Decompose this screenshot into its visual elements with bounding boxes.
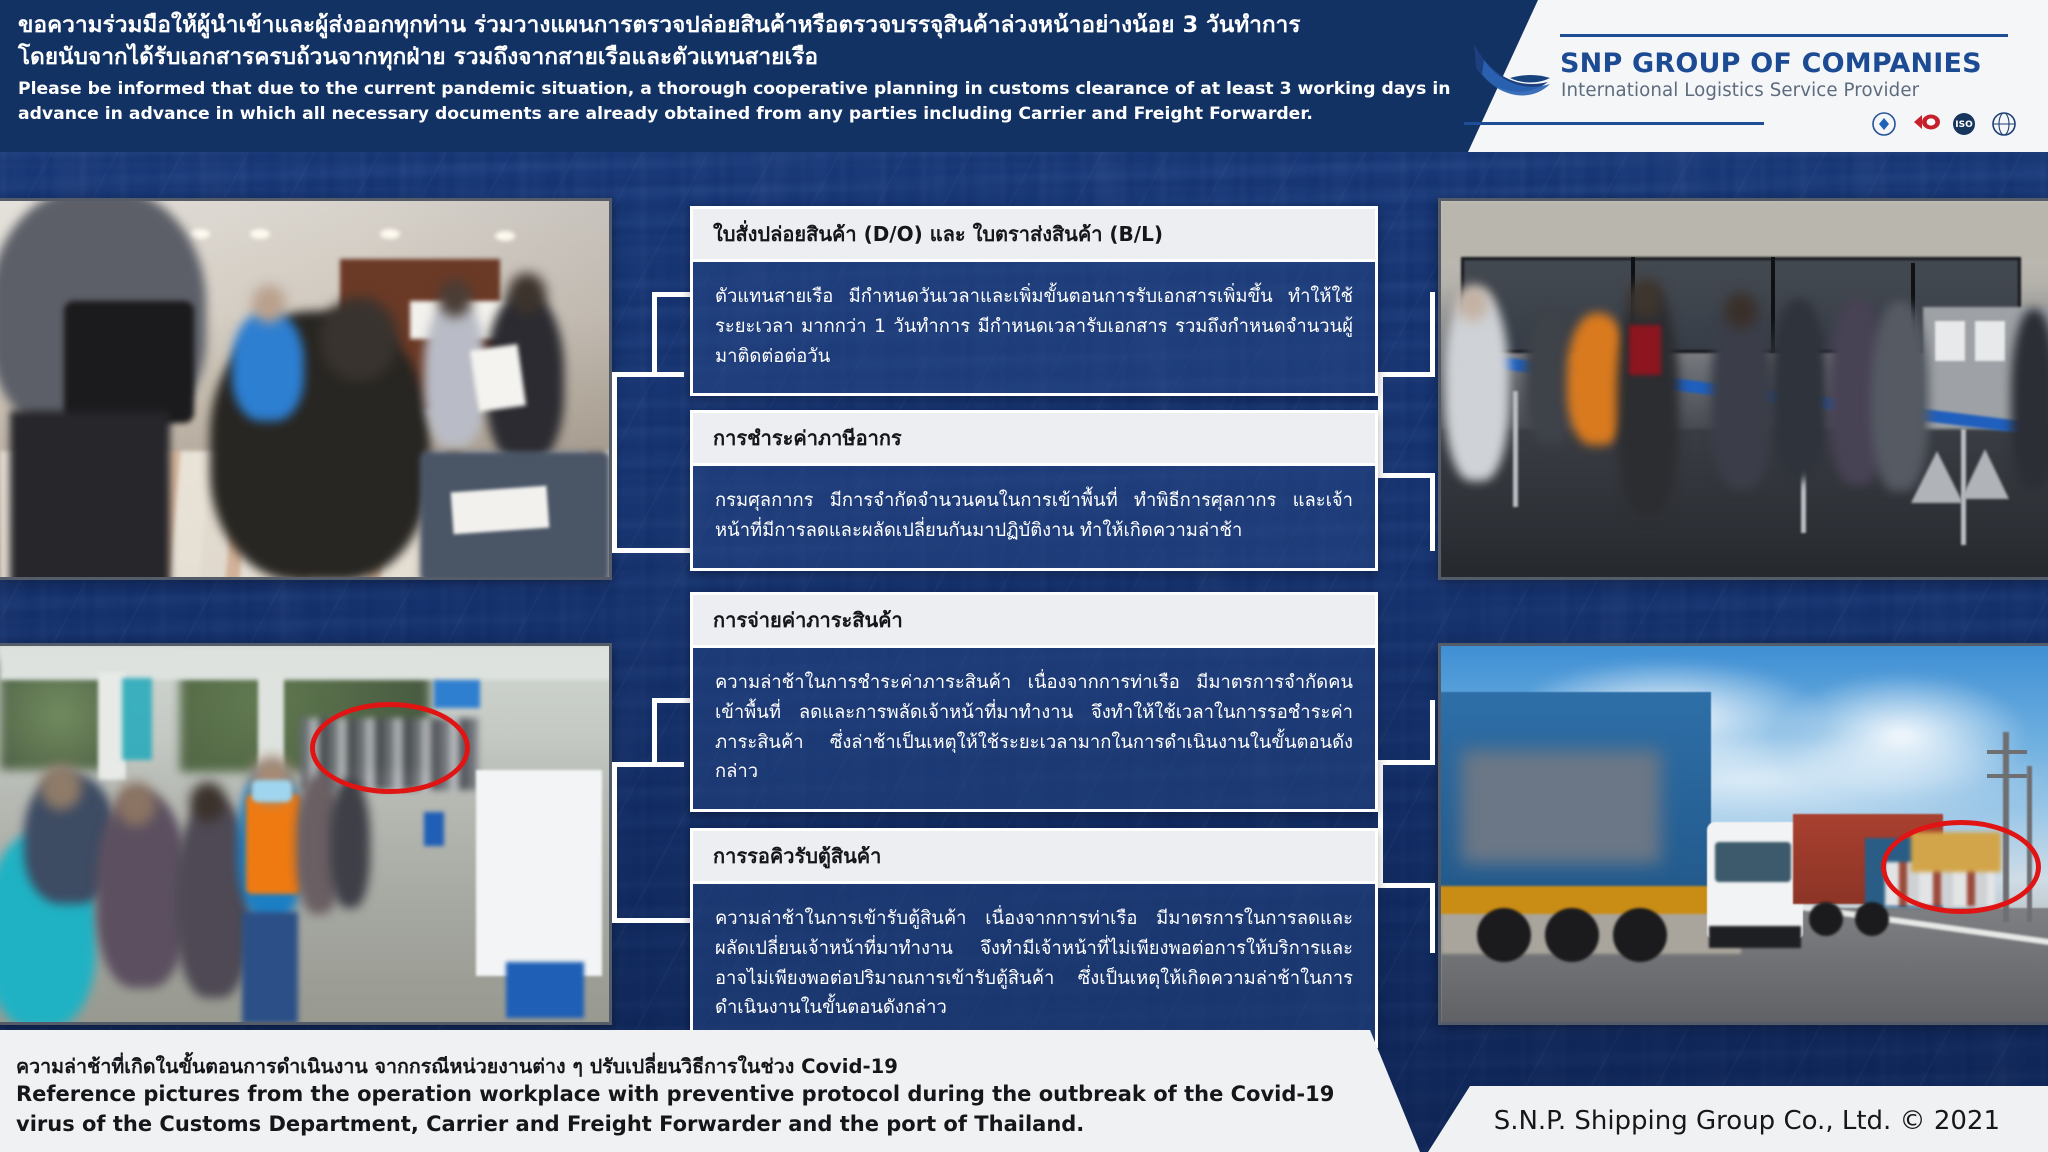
svg-text:ISO: ISO <box>1955 120 1973 130</box>
card-3-body: ความล่าช้าในการชำระค่าภาระสินค้า เนื่องจ… <box>693 645 1375 809</box>
footer-english-line-1: Reference pictures from the operation wo… <box>16 1080 1356 1110</box>
info-card-duty-payment[interactable]: การชำระค่าภาษีอากร กรมศุลกากร มีการจำกัด… <box>690 410 1378 571</box>
photo-tr-notice-2 <box>1975 321 2005 361</box>
photo-tr-head-1 <box>1457 285 1489 321</box>
certification-badges: ISO <box>1872 112 2016 136</box>
connector-left-up <box>652 292 657 377</box>
photo-tr-aframe-2 <box>1961 449 2009 499</box>
card-4-body: ความล่าช้าในการเข้ารับตู้สินค้า เนื่องจา… <box>693 881 1375 1045</box>
copyright-text: S.N.P. Shipping Group Co., Ltd. © 2021 <box>1494 1106 2000 1136</box>
info-card-cargo-charges[interactable]: การจ่ายค่าภาระสินค้า ความล่าช้าในการชำระ… <box>690 592 1378 812</box>
photo-br-truck-bumper <box>1709 926 1801 948</box>
header-message: ขอความร่วมมือให้ผู้นำเข้าและผู้ส่งออกทุก… <box>18 10 1508 126</box>
connector-right-top <box>1378 372 1434 377</box>
snp-swoosh-mark-icon <box>1470 34 1552 112</box>
photo-tl-person-blue <box>232 311 304 421</box>
photo-tr-person-7 <box>2011 309 2048 489</box>
logo-tagline: International Logistics Service Provider <box>1561 80 1919 101</box>
photo-tl-person-legs <box>10 411 170 580</box>
logo-company-name: SNP GROUP OF COMPANIES <box>1560 48 1982 79</box>
connector-right-up <box>1430 292 1435 377</box>
connector-right-down-2 <box>1430 883 1435 953</box>
card-4-title: การรอคิวรับตู้สินค้า <box>693 831 1375 881</box>
photo-tr-ceiling <box>1441 201 2048 259</box>
connector-right-vert-1 <box>1378 372 1383 478</box>
card-2-title: การชำระค่าภาษีอากร <box>693 413 1375 463</box>
photo-tl-head-dark <box>508 273 546 315</box>
card-1-title: ใบสั่งปล่อยสินค้า (D/O) และ ใบตราส่งสินค… <box>693 209 1375 259</box>
photo-br-truck-windshield <box>1715 842 1791 882</box>
header-english-text: Please be informed that due to the curre… <box>18 77 1508 127</box>
photo-tl-shoulder-bag <box>64 301 194 423</box>
photo-tl-head-grey <box>438 279 472 317</box>
header-thai-line-1: ขอความร่วมมือให้ผู้นำเข้าและผู้ส่งออกทุก… <box>18 10 1508 42</box>
photo-tl-paper-1 <box>470 344 526 412</box>
photo-tr-officer-armband <box>1629 325 1661 375</box>
photo-br-container-blurred-text <box>1461 750 1661 864</box>
photo-tr-head-officer <box>1629 279 1663 319</box>
photo-bl-whiteboard <box>476 770 602 976</box>
photo-br-wheel-5 <box>1855 902 1889 936</box>
photo-br-wheel-4 <box>1809 902 1843 936</box>
photo-container-truck-queue <box>1438 643 2048 1025</box>
connector-right-vert-2 <box>1378 760 1383 888</box>
photo-tr-aframe-1 <box>1911 451 1963 503</box>
iso-cert-badge-icon: ISO <box>1952 112 1976 136</box>
connector-to-card-3 <box>652 698 692 703</box>
photo-tr-notice-1 <box>1935 321 1965 361</box>
connector-left-down <box>612 372 617 552</box>
card-3-title: การจ่ายค่าภาระสินค้า <box>693 595 1375 645</box>
photo-shipping-line-office-queue <box>0 198 612 580</box>
photo-bl-red-ellipse-annotation <box>310 702 470 794</box>
photo-tl-head-seated <box>320 297 398 381</box>
footer-thai-caption: ความล่าช้าที่เกิดในขั้นตอนการดำเนินงาน จ… <box>16 1053 1356 1080</box>
connector-left-stem-2 <box>612 762 684 767</box>
connector-right-mid-2 <box>1378 883 1434 888</box>
footer-caption: ความล่าช้าที่เกิดในขั้นตอนการดำเนินงาน จ… <box>16 1053 1356 1140</box>
connector-left-up-2 <box>652 698 657 766</box>
photo-br-wheel-3 <box>1613 908 1667 962</box>
photo-bl-blue-bin <box>424 812 444 846</box>
footer-english-line-2: virus of the Customs Department, Carrier… <box>16 1110 1356 1140</box>
photo-bl-orange-vest <box>246 794 302 894</box>
connector-right-up-2 <box>1430 700 1435 765</box>
red-shield-cert-badge-icon <box>1912 112 1936 136</box>
photo-bl-person-queue-2 <box>330 778 370 908</box>
photo-bl-head-1 <box>40 764 82 810</box>
connector-right-top-2 <box>1378 760 1434 765</box>
photo-customs-hall-queue <box>1438 198 2048 580</box>
photo-tl-light-2 <box>250 229 270 239</box>
photo-tr-head-backpack <box>1725 293 1757 329</box>
company-logo: SNP GROUP OF COMPANIES International Log… <box>1464 12 2034 140</box>
photo-br-crossarm-1 <box>1987 750 2027 754</box>
connector-left-down-2 <box>612 762 617 922</box>
photo-tr-person-backpack <box>1711 301 1773 489</box>
photo-tl-light-4 <box>495 231 515 241</box>
photo-outdoor-waiting-area <box>0 643 612 1025</box>
header-thai-line-2: โดยนับจากได้รับเอกสารครบถ้วนจากทุกฝ่าย ร… <box>18 42 1508 74</box>
photo-bl-board-base <box>506 962 584 1018</box>
photo-br-wheel-2 <box>1545 908 1599 962</box>
photo-tl-light-3 <box>380 229 400 239</box>
card-2-body: กรมศุลกากร มีการจำกัดจำนวนคนในการเข้าพื้… <box>693 463 1375 568</box>
photo-bl-head-2 <box>116 782 156 826</box>
photo-br-crossarm-2 <box>1987 774 2027 778</box>
photo-tl-head-blue <box>252 285 286 323</box>
logo-rule-top <box>1560 34 2008 37</box>
photo-tr-person-4 <box>1771 299 1827 481</box>
photo-bl-worker-jeans <box>242 912 298 1024</box>
logo-rule-bottom <box>1464 122 1764 125</box>
diamond-cert-badge-icon <box>1872 112 1896 136</box>
card-1-body: ตัวแทนสายเรือ มีกำหนดวันเวลาและเพิ่มขั้น… <box>693 259 1375 393</box>
connector-right-down <box>1430 473 1435 551</box>
connector-left-stem <box>612 372 684 377</box>
photo-tr-stanchion-1 <box>1513 391 1518 507</box>
connector-to-card-4 <box>612 918 692 923</box>
photo-tl-light-1 <box>190 229 210 239</box>
connector-to-card-2 <box>612 548 692 553</box>
connector-right-mid <box>1378 473 1434 478</box>
photo-tl-paper-2 <box>451 486 550 535</box>
photo-bl-blue-sign <box>434 680 480 708</box>
info-card-container-pickup-queue[interactable]: การรอคิวรับตู้สินค้า ความล่าช้าในการเข้า… <box>690 828 1378 1048</box>
photo-tr-officer <box>1617 287 1679 517</box>
poster-root: ขอความร่วมมือให้ผู้นำเข้าและผู้ส่งออกทุก… <box>0 0 2048 1152</box>
photo-br-wheel-1 <box>1477 908 1531 962</box>
connector-to-card-1 <box>652 292 692 297</box>
footer-band: ความล่าช้าที่เกิดในขั้นตอนการดำเนินงาน จ… <box>0 1030 2048 1152</box>
info-card-delivery-order[interactable]: ใบสั่งปล่อยสินค้า (D/O) และ ใบตราส่งสินค… <box>690 206 1378 396</box>
photo-br-red-ellipse-annotation <box>1881 820 2041 914</box>
header-band: ขอความร่วมมือให้ผู้นำเข้าและผู้ส่งออกทุก… <box>0 0 2048 152</box>
tiffa-cert-badge-icon <box>1992 112 2016 136</box>
photo-bl-banner <box>122 678 152 760</box>
photo-bl-awning <box>0 646 612 680</box>
photo-bl-head-3 <box>190 782 226 822</box>
photo-bl-face-mask <box>252 780 292 802</box>
